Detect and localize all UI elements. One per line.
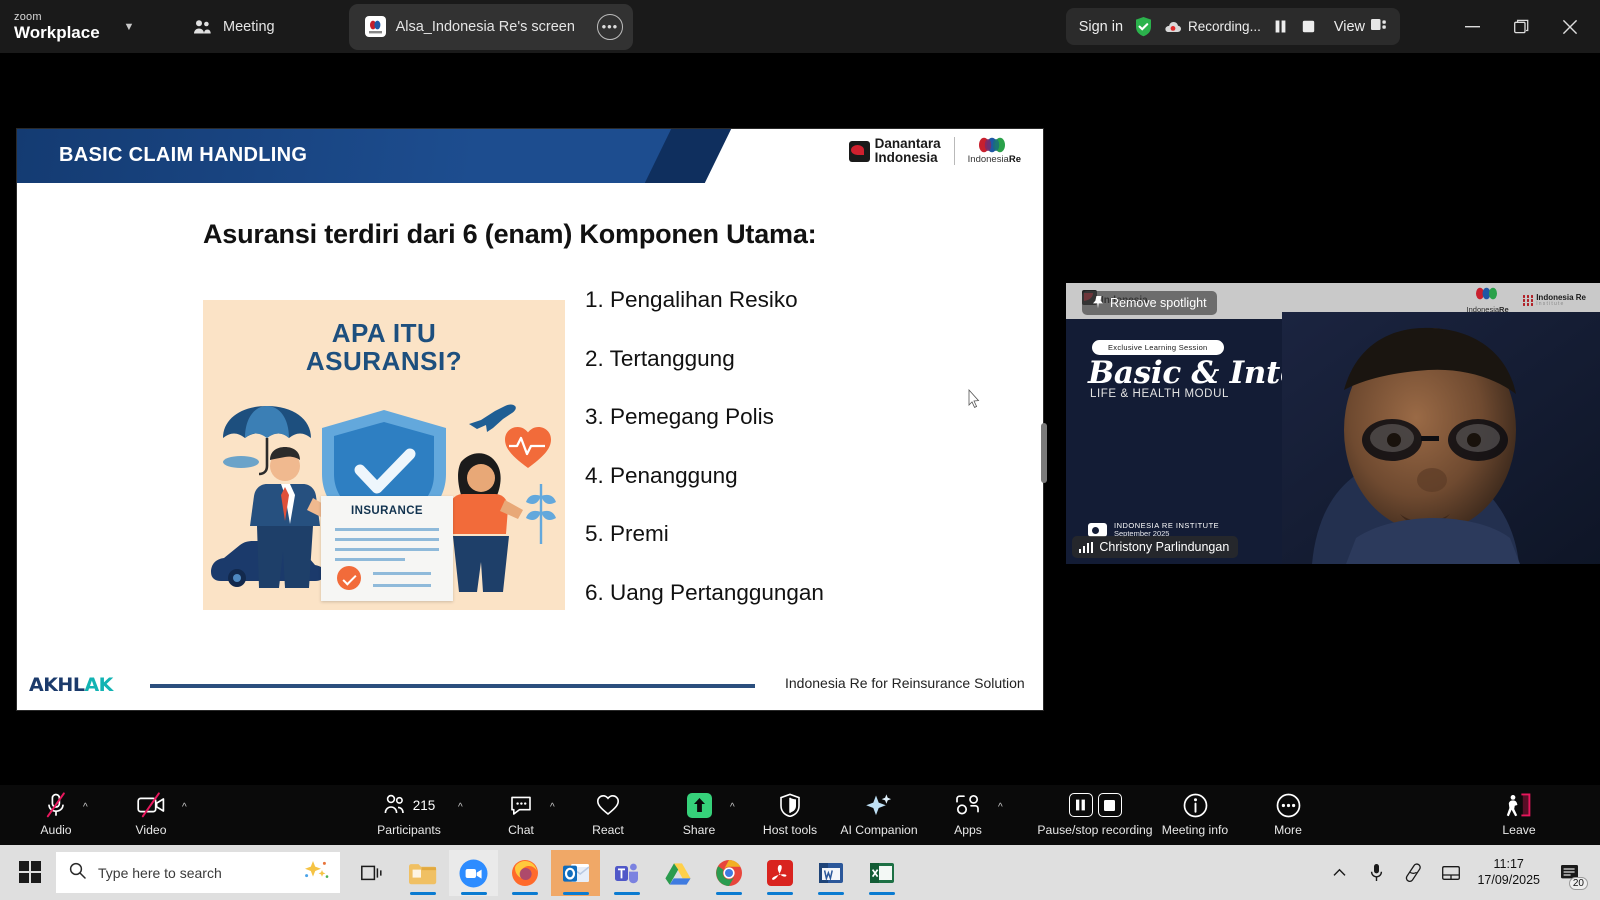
- close-icon[interactable]: [1546, 0, 1594, 53]
- video-session-badge: Exclusive Learning Session: [1092, 340, 1224, 355]
- video-indonesiare-logo: IndonesiaRe: [1467, 287, 1509, 314]
- video-slide-subtitle: LIFE & HEALTH MODUL: [1090, 388, 1229, 400]
- infographic-title-line2: ASURANSI?: [203, 348, 565, 376]
- toolbar-chat-label: Chat: [508, 823, 534, 837]
- clock-time: 11:17: [1477, 857, 1540, 873]
- tab-shared-screen-label: Alsa_Indonesia Re's screen: [396, 19, 575, 35]
- taskbar-active-underline: [512, 892, 538, 895]
- taskbar-word-icon[interactable]: [806, 850, 855, 896]
- chat-caret-icon[interactable]: ^: [550, 802, 555, 813]
- task-view-icon[interactable]: [352, 852, 392, 893]
- doc-line: [335, 558, 405, 561]
- footer-divider-line: [150, 684, 755, 688]
- zoom-logo: zoom Workplace: [14, 12, 100, 41]
- toolbar-ai-companion-button[interactable]: AI Companion: [833, 792, 925, 837]
- danantara-line2: Indonesia: [875, 151, 941, 165]
- toolbar-more-button[interactable]: More: [1242, 792, 1334, 837]
- ellipsis-icon[interactable]: •••: [597, 14, 623, 40]
- slide-header: BASIC CLAIM HANDLING Danantara Indonesia…: [17, 129, 1043, 183]
- recording-label: Recording...: [1188, 19, 1261, 34]
- share-caret-icon[interactable]: ^: [730, 802, 735, 813]
- toolbar-share-button[interactable]: Share: [653, 792, 745, 837]
- toolbar-audio-button[interactable]: Audio: [10, 792, 102, 837]
- toolbar-pause-stop-recording-button[interactable]: Pause/stop recording: [1031, 792, 1159, 837]
- chat-icon: [510, 792, 532, 818]
- pause-stop-recording-icon: [1069, 792, 1122, 818]
- participant-name-label: Christony Parlindungan: [1099, 540, 1229, 554]
- taskbar-clock[interactable]: 11:17 17/09/2025: [1469, 857, 1548, 888]
- akhlak-logo: AKHLAK: [29, 674, 113, 696]
- layout-icon: [1371, 18, 1387, 35]
- microphone-icon[interactable]: [1358, 845, 1395, 900]
- doc-line: [373, 584, 431, 587]
- search-input[interactable]: Type here to search: [56, 852, 340, 893]
- institute-grid-icon: [1523, 295, 1534, 306]
- system-tray: 11:17 17/09/2025 20: [1321, 845, 1592, 900]
- slide-footer-text: Indonesia Re for Reinsurance Solution: [785, 675, 1025, 691]
- indonesiare-logo-text: IndonesiaRe: [968, 154, 1021, 165]
- taskbar-active-underline: [614, 892, 640, 895]
- danantara-line1: Danantara: [875, 137, 941, 151]
- institute-sub: Institute: [1536, 302, 1586, 307]
- toolbar-apps-button[interactable]: Apps: [922, 792, 1014, 837]
- shared-screen-stage: BASIC CLAIM HANDLING Danantara Indonesia…: [0, 53, 1057, 785]
- toolbar-chat-button[interactable]: Chat: [475, 792, 567, 837]
- apps-icon: [955, 792, 981, 818]
- stop-icon[interactable]: [1300, 18, 1317, 35]
- toolbar-apps-label: Apps: [954, 823, 982, 837]
- sign-in-button[interactable]: Sign in: [1079, 19, 1123, 35]
- danantara-logo-text: Danantara Indonesia: [875, 137, 941, 165]
- infographic-title: APA ITU ASURANSI?: [203, 320, 565, 375]
- toolbar-host-tools-label: Host tools: [763, 823, 817, 837]
- toolbar-host-tools-button[interactable]: Host tools: [744, 792, 836, 837]
- remove-spotlight-button[interactable]: Remove spotlight: [1082, 291, 1217, 315]
- logo-divider: [954, 137, 955, 165]
- taskbar-teams-icon[interactable]: [602, 850, 651, 896]
- pin-icon: [1092, 295, 1104, 312]
- presentation-slide: BASIC CLAIM HANDLING Danantara Indonesia…: [16, 128, 1044, 711]
- taskbar-google-drive-icon[interactable]: [653, 850, 702, 896]
- view-button[interactable]: View: [1334, 18, 1387, 35]
- heart-icon: [596, 792, 620, 818]
- taskbar-outlook-icon[interactable]: [551, 850, 600, 896]
- taskbar-firefox-icon[interactable]: [500, 850, 549, 896]
- slide-footer: AKHLAK Indonesia Re for Reinsurance Solu…: [17, 654, 1043, 711]
- taskbar-excel-icon[interactable]: [857, 850, 906, 896]
- doc-check-icon: [337, 566, 361, 590]
- mouse-cursor: [968, 389, 980, 408]
- sparkle-icon: [866, 792, 892, 818]
- taskbar-active-underline: [563, 892, 589, 895]
- insurance-document-title: INSURANCE: [321, 505, 453, 517]
- view-label: View: [1334, 19, 1365, 35]
- toolbar-participants-button[interactable]: 215 Participants: [363, 792, 455, 837]
- shared-screen-icon: [365, 16, 386, 37]
- taskbar-active-underline: [461, 892, 487, 895]
- tab-meeting-label: Meeting: [223, 19, 275, 35]
- video-logo-group: IndonesiaRe Indonesia Re Institute: [1467, 287, 1586, 314]
- speaker-video-feed: [1282, 312, 1600, 564]
- pause-icon[interactable]: [1272, 18, 1289, 35]
- doc-line: [335, 538, 439, 541]
- info-icon: [1183, 792, 1208, 818]
- taskbar-active-underline: [818, 892, 844, 895]
- pause-recording-icon[interactable]: [1069, 793, 1093, 817]
- slide-heading: Asuransi terdiri dari 6 (enam) Komponen …: [203, 219, 816, 250]
- toolbar-share-label: Share: [683, 823, 716, 837]
- windows-taskbar: Type here to search: [0, 845, 1600, 900]
- clock-date: 17/09/2025: [1477, 873, 1540, 889]
- components-list: 1. Pengalihan Resiko 2. Tertanggung 3. P…: [585, 287, 824, 638]
- list-item: 4. Penanggung: [585, 463, 824, 489]
- meeting-toolbar: Audio ^ Video ^ 215 Participants ^ Chat …: [0, 785, 1600, 845]
- toolbar-video-label: Video: [136, 823, 167, 837]
- notification-count: 20: [1569, 877, 1588, 890]
- more-dots-icon: [1276, 792, 1301, 818]
- participants-icon: 215: [383, 792, 436, 818]
- akhlak-part-a: AKHL: [29, 674, 84, 696]
- institute-text: Indonesia Re Institute: [1536, 294, 1586, 307]
- participants-count: 215: [413, 798, 436, 813]
- remove-spotlight-label: Remove spotlight: [1110, 296, 1207, 310]
- search-icon: [69, 862, 86, 884]
- toolbar-participants-label: Participants: [377, 823, 441, 837]
- camera-off-icon: [137, 792, 165, 818]
- taskbar-file-explorer-icon[interactable]: [398, 850, 447, 896]
- infographic-image: APA ITU ASURANSI?: [203, 300, 565, 610]
- video-caret-icon[interactable]: ^: [182, 802, 187, 813]
- pen-icon[interactable]: [1395, 845, 1432, 900]
- toolbar-meeting-info-button[interactable]: Meeting info: [1149, 792, 1241, 837]
- cloud-record-icon: [1164, 21, 1182, 33]
- indonesiare-logo: IndonesiaRe: [968, 137, 1021, 165]
- recording-status[interactable]: Recording...: [1164, 19, 1261, 34]
- tab-shared-screen[interactable]: Alsa_Indonesia Re's screen •••: [349, 4, 633, 50]
- chevron-up-icon[interactable]: [1321, 845, 1358, 900]
- video-panel: Indonesia IndonesiaRe Indonesia Re Insti…: [1057, 53, 1600, 785]
- list-item: 5. Premi: [585, 521, 824, 547]
- copilot-sparkle-icon[interactable]: [300, 859, 330, 886]
- leave-meeting-icon: [1506, 792, 1532, 818]
- touchpad-icon[interactable]: [1432, 845, 1469, 900]
- doc-line: [373, 572, 431, 575]
- taskbar-active-underline: [410, 892, 436, 895]
- taskbar-zoom-icon[interactable]: [449, 850, 498, 896]
- vertical-scrollbar[interactable]: [1041, 423, 1047, 483]
- signal-bars-icon: [1079, 542, 1093, 553]
- slide-header-title: BASIC CLAIM HANDLING: [59, 144, 307, 167]
- danantara-mark-icon: [849, 141, 870, 162]
- participants-group-icon: [192, 16, 213, 37]
- toolbar-more-label: More: [1274, 823, 1302, 837]
- audio-caret-icon[interactable]: ^: [83, 802, 88, 813]
- video-tile-speaker[interactable]: Indonesia IndonesiaRe Indonesia Re Insti…: [1066, 283, 1600, 564]
- participants-caret-icon[interactable]: ^: [458, 802, 463, 813]
- restore-icon[interactable]: [1497, 0, 1545, 53]
- minimize-icon[interactable]: [1448, 0, 1496, 53]
- share-green-square: [687, 793, 712, 818]
- list-item: 6. Uang Pertanggungan: [585, 580, 824, 606]
- share-screen-icon: [687, 792, 712, 818]
- list-item: 1. Pengalihan Resiko: [585, 287, 824, 313]
- toolbar-video-button[interactable]: Video: [105, 792, 197, 837]
- titlebar-right-group: Sign in Recording... View: [1066, 8, 1400, 45]
- toolbar-react-label: React: [592, 823, 624, 837]
- windows-start-icon[interactable]: [8, 850, 52, 894]
- zoom-logo-top: zoom: [14, 12, 100, 23]
- title-bar: zoom Workplace ▼ Meeting Alsa_Indonesia …: [0, 0, 1600, 53]
- toolbar-ai-companion-label: AI Companion: [840, 823, 917, 837]
- danantara-logo: Danantara Indonesia: [849, 137, 941, 165]
- microphone-muted-icon: [45, 792, 67, 818]
- notification-icon[interactable]: 20: [1548, 845, 1592, 900]
- participant-name-badge: Christony Parlindungan: [1072, 536, 1238, 558]
- shield-check-icon[interactable]: [1134, 16, 1153, 37]
- infographic-title-line1: APA ITU: [203, 320, 565, 348]
- taskbar-active-underline: [767, 892, 793, 895]
- search-placeholder: Type here to search: [98, 865, 222, 881]
- indonesiare-rings-icon: [968, 137, 1021, 153]
- shield-icon: [779, 792, 801, 818]
- toolbar-react-button[interactable]: React: [562, 792, 654, 837]
- toolbar-leave-label: Leave: [1502, 823, 1535, 837]
- tab-meeting[interactable]: Meeting: [176, 4, 291, 50]
- taskbar-acrobat-icon[interactable]: [755, 850, 804, 896]
- slide-body: Asuransi terdiri dari 6 (enam) Komponen …: [17, 183, 1043, 654]
- doc-line: [335, 548, 439, 551]
- slide-logos: Danantara Indonesia IndonesiaRe: [849, 137, 1021, 165]
- apps-caret-icon[interactable]: ^: [998, 802, 1003, 813]
- insurance-document: INSURANCE: [321, 496, 453, 601]
- doc-line: [335, 528, 439, 531]
- zoom-logo-bottom: Workplace: [14, 24, 100, 41]
- taskbar-active-underline: [869, 892, 895, 895]
- toolbar-pause-stop-recording-label: Pause/stop recording: [1037, 823, 1152, 837]
- stop-recording-icon[interactable]: [1098, 793, 1122, 817]
- video-institute-logo: Indonesia Re Institute: [1523, 294, 1586, 307]
- list-item: 2. Tertanggung: [585, 346, 824, 372]
- toolbar-audio-label: Audio: [40, 823, 71, 837]
- toolbar-meeting-info-label: Meeting info: [1162, 823, 1228, 837]
- toolbar-leave-button[interactable]: Leave: [1473, 792, 1565, 837]
- chevron-down-icon[interactable]: ▼: [118, 16, 140, 38]
- akhlak-part-b: AK: [84, 674, 112, 696]
- taskbar-active-underline: [716, 892, 742, 895]
- list-item: 3. Pemegang Polis: [585, 404, 824, 430]
- taskbar-chrome-icon[interactable]: [704, 850, 753, 896]
